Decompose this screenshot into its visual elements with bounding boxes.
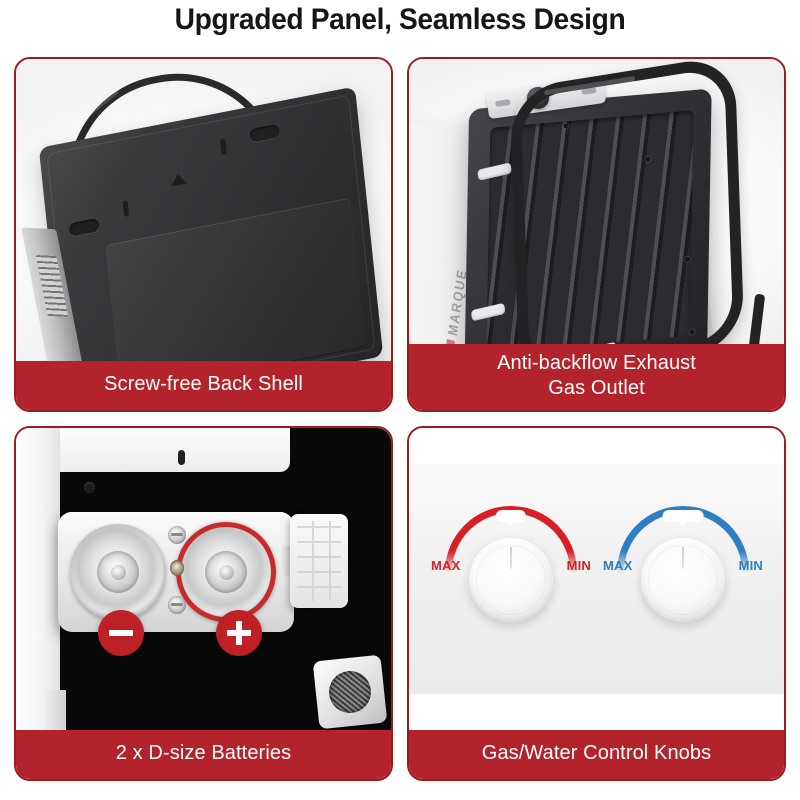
feature-card-screw-free-back-shell: Screw-free Back Shell <box>14 57 393 412</box>
card-caption: Gas/Water Control Knobs <box>409 730 784 779</box>
page-title: Upgraded Panel, Seamless Design <box>24 2 776 38</box>
housing-top-lip <box>60 428 290 472</box>
water-label-tag: WATER <box>663 510 704 522</box>
positive-highlight-ring <box>176 522 276 622</box>
screw-icon <box>168 596 186 614</box>
plus-badge-icon <box>216 610 262 656</box>
water-max-label: MAX <box>603 558 633 573</box>
vent-pin-icon <box>220 138 227 155</box>
feature-card-anti-backflow-exhaust-gas-outlet: MARQUE <box>407 57 786 412</box>
card-caption: 2 x D-size Batteries <box>16 730 391 779</box>
exhaust-outlet-scene: MARQUE <box>409 59 784 344</box>
battery-tray <box>58 512 294 632</box>
exhaust-outlet-photo: MARQUE <box>409 59 784 344</box>
gas-knob-unit[interactable]: GAS MAX MIN <box>431 506 591 656</box>
gas-label-text: GAS <box>503 512 519 519</box>
water-label-text: WATER <box>670 512 697 519</box>
back-shell-photo <box>16 59 391 361</box>
mounting-slot-icon <box>249 124 280 143</box>
battery-door-lid <box>290 514 348 608</box>
minus-bar <box>109 630 133 636</box>
control-panel-scene: GAS MAX MIN WATER MAX <box>409 428 784 730</box>
plus-bar-vertical <box>236 621 242 645</box>
water-control-knob[interactable] <box>641 538 725 622</box>
housing-bottom-edge <box>44 690 66 730</box>
water-min-label: MIN <box>739 558 763 573</box>
back-shell-lower-panel <box>105 197 366 361</box>
housing-left-edge <box>16 428 60 730</box>
gas-min-label: MIN <box>567 558 591 573</box>
screw-hole-icon <box>84 482 95 493</box>
control-knobs-photo: GAS MAX MIN WATER MAX <box>409 428 784 730</box>
gas-max-label: MAX <box>431 558 461 573</box>
gas-label-tag: GAS <box>496 510 526 522</box>
vent-pin-icon <box>122 200 129 217</box>
cone-marker-icon <box>170 172 187 186</box>
feature-card-d-size-batteries: 2 x D-size Batteries <box>14 426 393 781</box>
back-shell-scene <box>16 59 391 361</box>
infographic-page: Upgraded Panel, Seamless Design <box>0 0 800 800</box>
card-caption: Screw-free Back Shell <box>16 361 391 410</box>
card-caption: Anti-backflow Exhaust Gas Outlet <box>409 344 784 410</box>
minus-badge-icon <box>98 610 144 656</box>
water-knob-unit[interactable]: WATER MAX MIN <box>603 506 763 656</box>
feature-card-gas-water-control-knobs: GAS MAX MIN WATER MAX <box>407 426 786 781</box>
carry-handle-icon <box>509 59 744 344</box>
screw-icon <box>168 526 186 544</box>
card-caption-line-2: Gas Outlet <box>419 376 774 401</box>
battery-compartment-photo <box>16 428 391 730</box>
center-hole-icon <box>170 560 184 576</box>
gas-control-knob[interactable] <box>469 538 553 622</box>
battery-scene <box>16 428 391 730</box>
mounting-slot-icon <box>69 218 100 237</box>
handle-foot <box>749 294 766 344</box>
feature-card-grid: Screw-free Back Shell MARQUE <box>14 57 786 787</box>
water-inlet-filter-icon <box>313 655 388 730</box>
battery-terminal-negative <box>70 524 166 620</box>
card-caption-line-1: Anti-backflow Exhaust <box>419 351 774 376</box>
